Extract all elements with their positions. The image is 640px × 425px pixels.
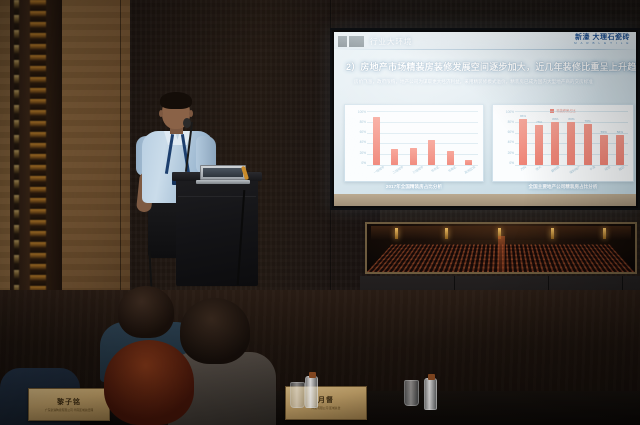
water-glass [290,382,305,408]
bar [600,135,608,165]
framed-theater-artwork [365,222,637,274]
header-accent-block [338,36,364,47]
x-tick-label: 融创 [618,165,631,180]
water-bottle [305,376,318,408]
chart-right-x-axis: 万科恒大碧桂园保利地产中海绿地融创 [515,165,628,179]
x-tick-label: 华东区 [431,165,446,182]
y-tick-label: 60% [508,131,514,134]
bar [535,125,543,166]
presenter-hair [160,92,192,109]
microphone-icon [183,118,191,128]
y-tick-label: 0% [509,162,514,165]
audience-member-head [180,298,250,364]
y-tick-label: 100% [506,111,514,114]
chart-right-bars: 86%75%80%80%76%55%56% [515,111,628,165]
bar [584,124,592,165]
chart-left: 100%80%60%40%20%0% 一线城市二线城市三线城市华东区华南区其他区… [344,104,484,182]
bar-group [447,111,454,165]
y-tick-label: 80% [360,121,366,124]
conference-room-photo: 行业大环境 新濠 大理石瓷砖 M A R B L E T I L E 2）房地产… [0,0,640,425]
bar-value-label: 80% [552,117,558,121]
bar-value-label: 76% [585,119,591,123]
presentation-slide: 行业大环境 新濠 大理石瓷砖 M A R B L E T I L E 2）房地产… [334,32,636,206]
name-card-subtitle: 广东新濠陶瓷有限公司 华南区域总经理 [45,408,93,412]
podium [176,178,258,286]
x-tick-label: 恒大 [535,165,548,180]
bar-group [410,111,417,165]
x-tick-label: 一线城市 [373,165,391,183]
y-tick-label: 0% [361,162,366,165]
bar [447,151,454,165]
bar-group: 80% [567,111,575,165]
name-card: 黎子铭 广东新濠陶瓷有限公司 华南区域总经理 [28,388,110,421]
chart-left-bars [367,111,478,165]
name-card-name: 月督 [318,395,334,405]
slide-body-text: 房价飞涨，政府限购，地产公司为谋取更大经济利益，采用精装修模式溢价，精装房已成为… [354,78,624,86]
bar-group [428,111,435,165]
y-tick-label: 40% [508,141,514,144]
bar-group: 56% [616,111,624,165]
bar [391,149,398,165]
presenter-ear-left [159,110,163,117]
x-tick-label: 中海 [589,165,602,180]
bar-group: 80% [551,111,559,165]
chart-right-y-axis: 100%80%60%40%20%0% [496,111,514,165]
x-tick-label: 其他区域 [464,165,482,183]
bar-group: 86% [519,111,527,165]
water-glass [404,380,419,406]
bar [567,122,575,165]
chart-left-caption: 2017年全国精装房占比分析 [344,184,484,190]
bar-value-label: 75% [536,120,542,124]
bar [616,135,624,165]
audience-member-head [118,286,174,338]
logo-sub-text: M A R B L E T I L E [574,42,630,45]
bar-value-label: 56% [617,130,623,134]
x-tick-label: 保利地产 [569,165,587,183]
logo-brand-text: 新濠 大理石瓷砖 [574,34,630,41]
slide-footer [334,194,636,206]
accent-light-strip [30,0,46,300]
bar-group [391,111,398,165]
y-tick-label: 40% [360,141,366,144]
slide-headline: 2）房地产市场精装房装修发展空间逐步加大，近几年装修比重呈上升趋势 [346,60,628,73]
x-tick-label: 三线城市 [412,165,430,183]
x-tick-label: 二线城市 [392,165,410,183]
y-tick-label: 100% [358,111,366,114]
bar-value-label: 55% [601,130,607,134]
bar-group: 55% [600,111,608,165]
y-tick-label: 80% [508,121,514,124]
bar-group: 75% [535,111,543,165]
slide-section-title: 行业大环境 [370,36,413,47]
accent-light-strip-secondary [14,0,19,300]
bar-value-label: 80% [568,117,574,121]
presenter-ear-right [189,110,193,117]
x-tick-label: 碧桂园 [550,165,565,182]
bar-group: 76% [584,111,592,165]
bar-value-label: 86% [520,114,526,118]
chart-left-y-axis: 100%80%60%40%20%0% [348,111,366,165]
water-bottle [424,378,437,410]
bar [428,140,435,165]
x-tick-label: 万科 [520,165,533,180]
chart-right-caption: 全国主要地产公司精装房占比分析 [492,184,634,190]
bar-group [465,111,472,165]
chart-right: 精装修房占比 100%80%60%40%20%0% 86%75%80%80%76… [492,104,634,182]
chart-left-x-axis: 一线城市二线城市三线城市华东区华南区其他区域 [367,165,478,179]
x-tick-label: 绿地 [604,165,617,180]
y-tick-label: 60% [360,131,366,134]
brand-logo: 新濠 大理石瓷砖 M A R B L E T I L E [574,34,630,45]
bar-group [373,111,380,165]
x-tick-label: 华南区 [447,165,462,182]
y-tick-label: 20% [508,152,514,155]
name-card-name: 黎子铭 [57,397,81,407]
header-divider [334,49,636,50]
projection-screen: 行业大环境 新濠 大理石瓷砖 M A R B L E T I L E 2）房地产… [330,28,640,210]
bar [373,117,380,165]
bar [410,148,417,165]
bar [551,122,559,165]
audience-member-head [104,340,194,425]
y-tick-label: 20% [360,152,366,155]
bar [519,119,527,165]
